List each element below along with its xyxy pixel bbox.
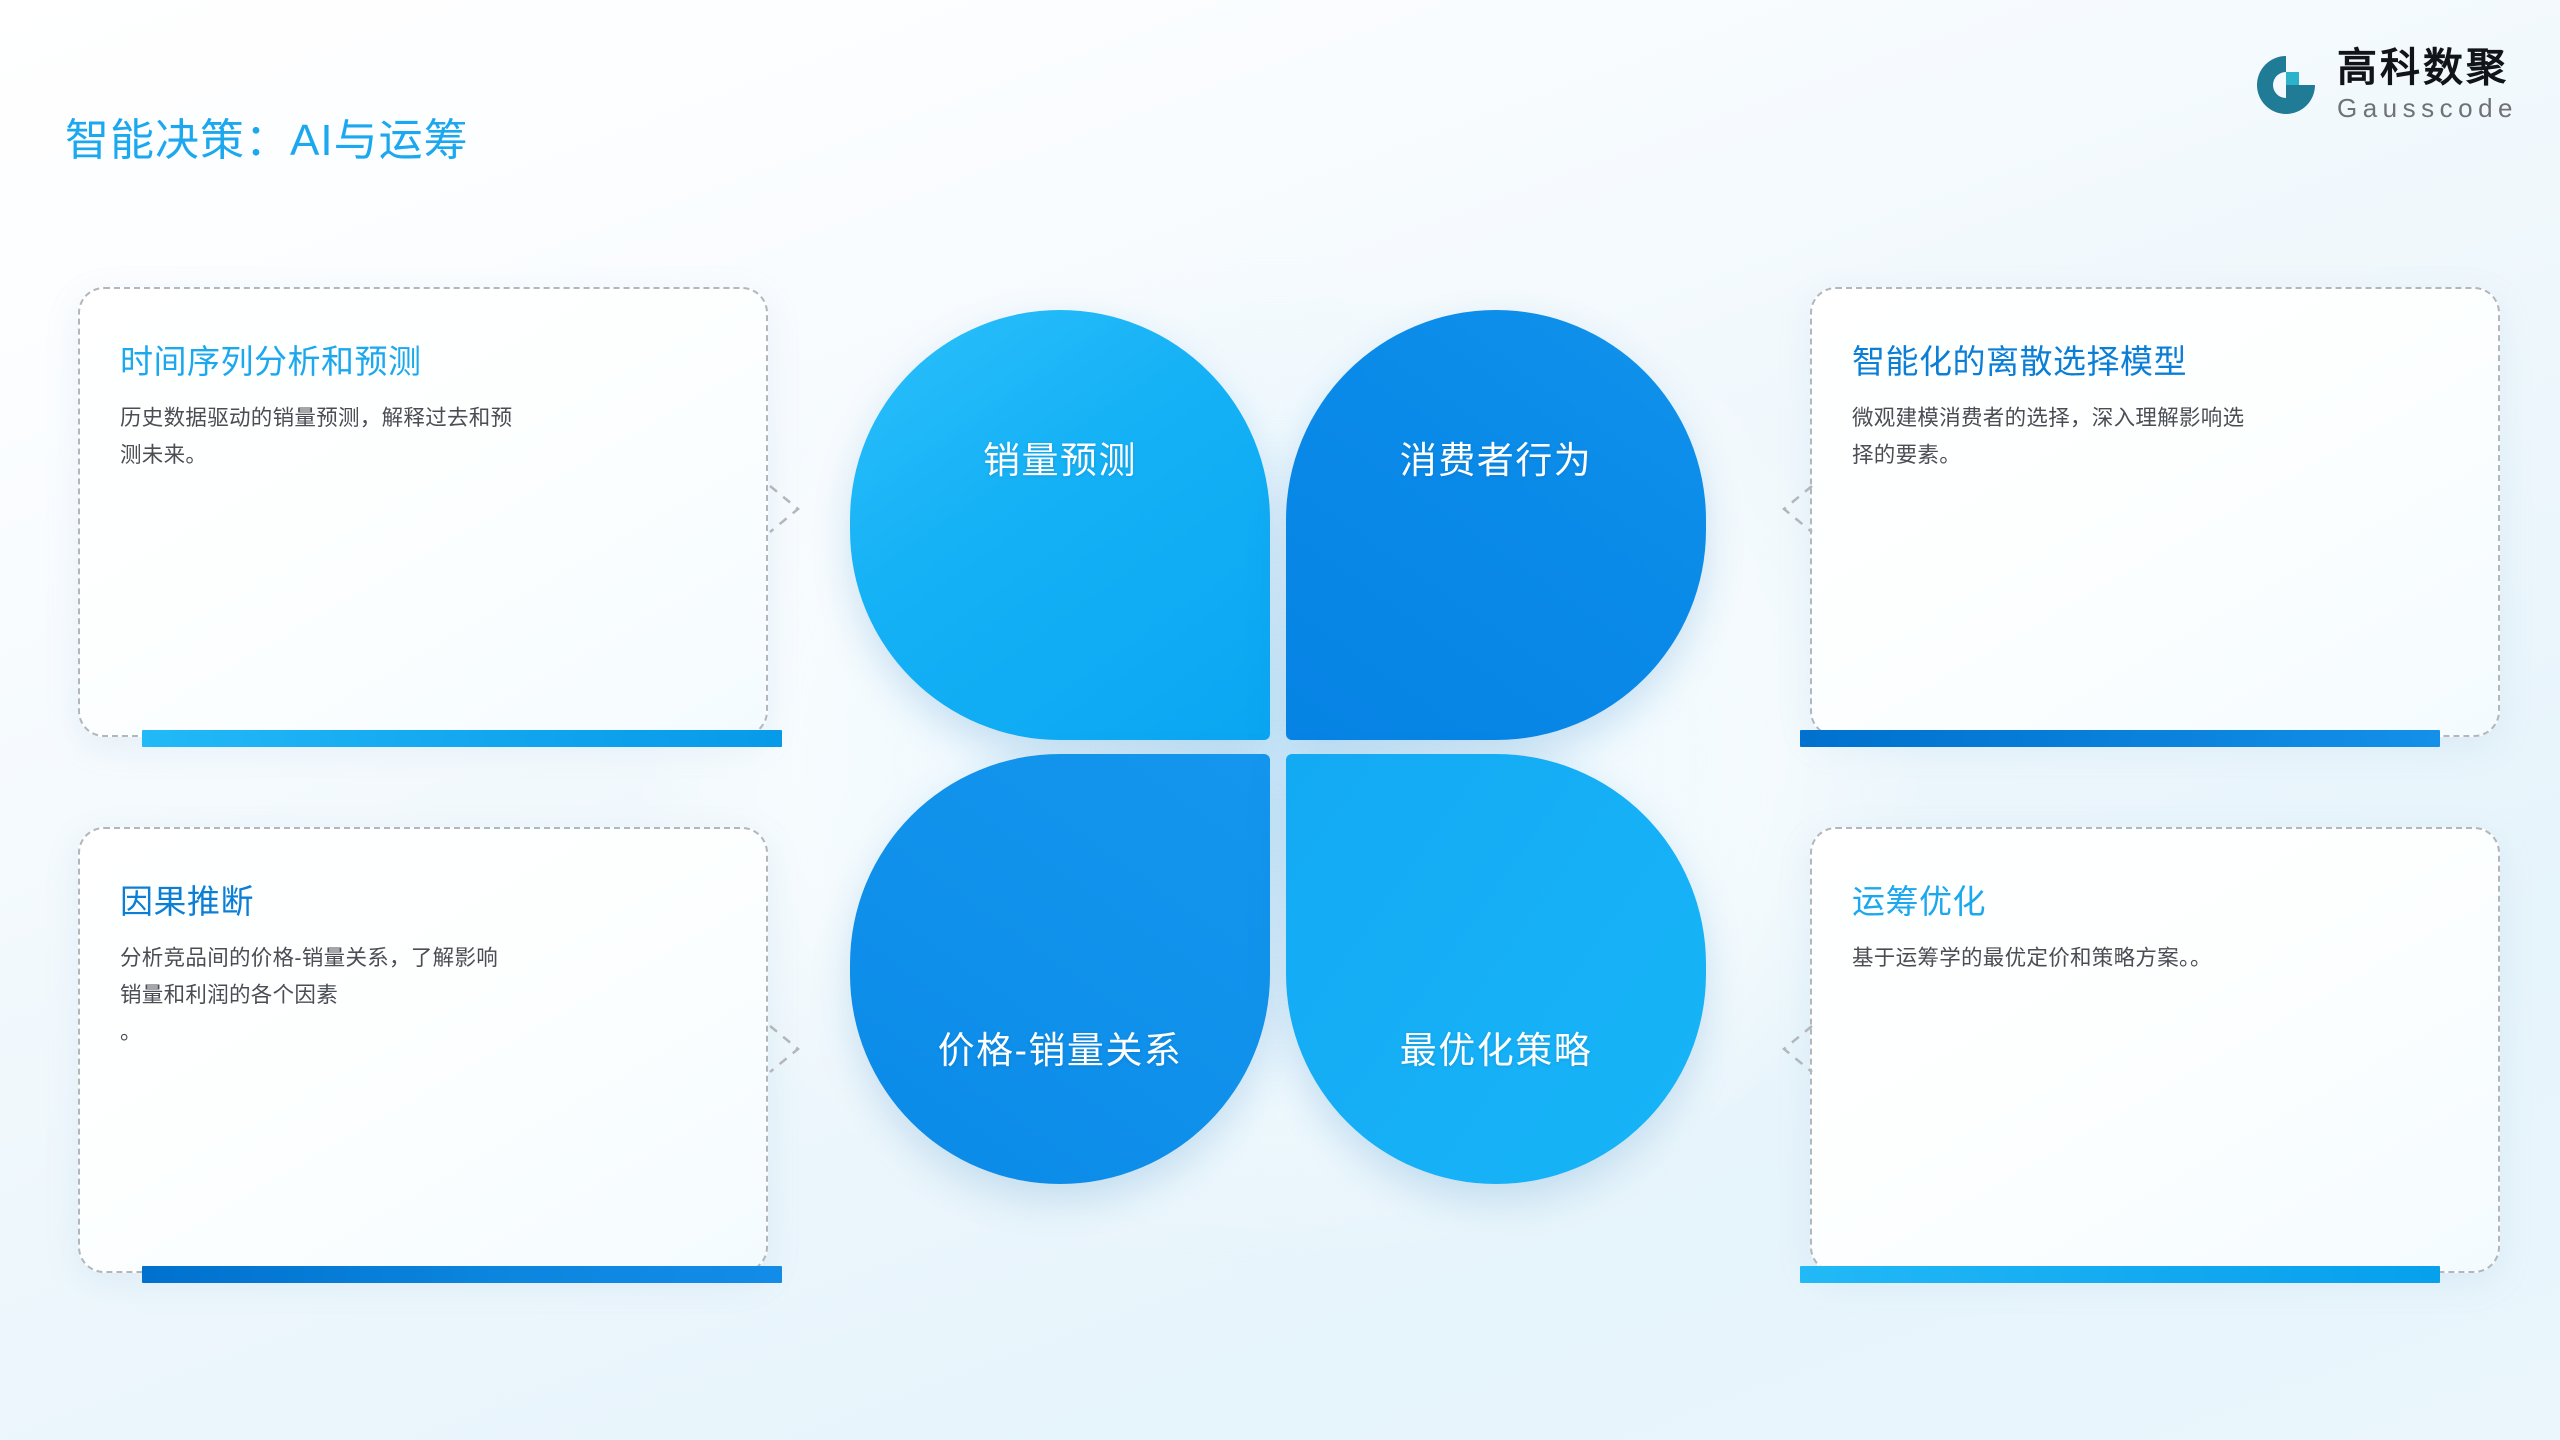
card-accent-bar <box>142 1266 782 1283</box>
card-title: 因果推断 <box>120 875 726 923</box>
petal-label: 价格-销量关系 <box>850 1020 1270 1074</box>
connector-arrow-icon <box>1780 484 1814 534</box>
clover-diagram: 销量预测 消费者行为 价格-销量关系 最优化策略 <box>850 310 1710 1210</box>
logo-name-cn: 高科数聚 <box>2337 48 2518 88</box>
petal-consumer-behavior[interactable]: 消费者行为 <box>1286 310 1706 740</box>
card-discrete-choice[interactable]: 智能化的离散选择模型 微观建模消费者的选择，深入理解影响选 择的要素。 <box>1810 287 2500 737</box>
connector-arrow-icon <box>768 484 802 534</box>
petal-price-sales[interactable]: 价格-销量关系 <box>850 754 1270 1184</box>
card-body: 微观建模消费者的选择，深入理解影响选 择的要素。 <box>1852 400 2458 474</box>
petal-label: 消费者行为 <box>1286 430 1706 484</box>
petal-optimal-strategy[interactable]: 最优化策略 <box>1286 754 1706 1184</box>
gausscode-logo-icon <box>2253 52 2319 118</box>
petal-label: 销量预测 <box>850 430 1270 484</box>
card-content: 智能化的离散选择模型 微观建模消费者的选择，深入理解影响选 择的要素。 <box>1852 335 2458 474</box>
connector-arrow-icon <box>768 1024 802 1074</box>
logo-text: 高科数聚 Gausscode <box>2337 48 2518 121</box>
card-causal-inference[interactable]: 因果推断 分析竞品间的价格-销量关系，了解影响 销量和利润的各个因素 。 <box>78 827 768 1273</box>
logo-name-en: Gausscode <box>2337 95 2518 121</box>
connector-arrow-icon <box>1780 1024 1814 1074</box>
card-operations-research[interactable]: 运筹优化 基于运筹学的最优定价和策略方案。。 <box>1810 827 2500 1273</box>
petal-label: 最优化策略 <box>1286 1020 1706 1074</box>
card-title: 时间序列分析和预测 <box>120 335 726 383</box>
petal-sales-forecast[interactable]: 销量预测 <box>850 310 1270 740</box>
brand-logo: 高科数聚 Gausscode <box>2253 48 2518 121</box>
card-body: 历史数据驱动的销量预测，解释过去和预 测未来。 <box>120 400 726 474</box>
slide-canvas: 智能决策：AI与运筹 高科数聚 Gausscode 销量预测 消费者行为 价格-… <box>0 0 2560 1440</box>
card-accent-bar <box>1800 1266 2440 1283</box>
card-content: 因果推断 分析竞品间的价格-销量关系，了解影响 销量和利润的各个因素 。 <box>120 875 726 1051</box>
card-content: 时间序列分析和预测 历史数据驱动的销量预测，解释过去和预 测未来。 <box>120 335 726 474</box>
card-content: 运筹优化 基于运筹学的最优定价和策略方案。。 <box>1852 875 2458 977</box>
card-body: 基于运筹学的最优定价和策略方案。。 <box>1852 940 2458 977</box>
card-accent-bar <box>1800 730 2440 747</box>
page-title: 智能决策：AI与运筹 <box>65 104 469 168</box>
card-title: 运筹优化 <box>1852 875 2458 923</box>
card-body: 分析竞品间的价格-销量关系，了解影响 销量和利润的各个因素 。 <box>120 940 726 1051</box>
card-time-series[interactable]: 时间序列分析和预测 历史数据驱动的销量预测，解释过去和预 测未来。 <box>78 287 768 737</box>
card-title: 智能化的离散选择模型 <box>1852 335 2458 383</box>
card-accent-bar <box>142 730 782 747</box>
